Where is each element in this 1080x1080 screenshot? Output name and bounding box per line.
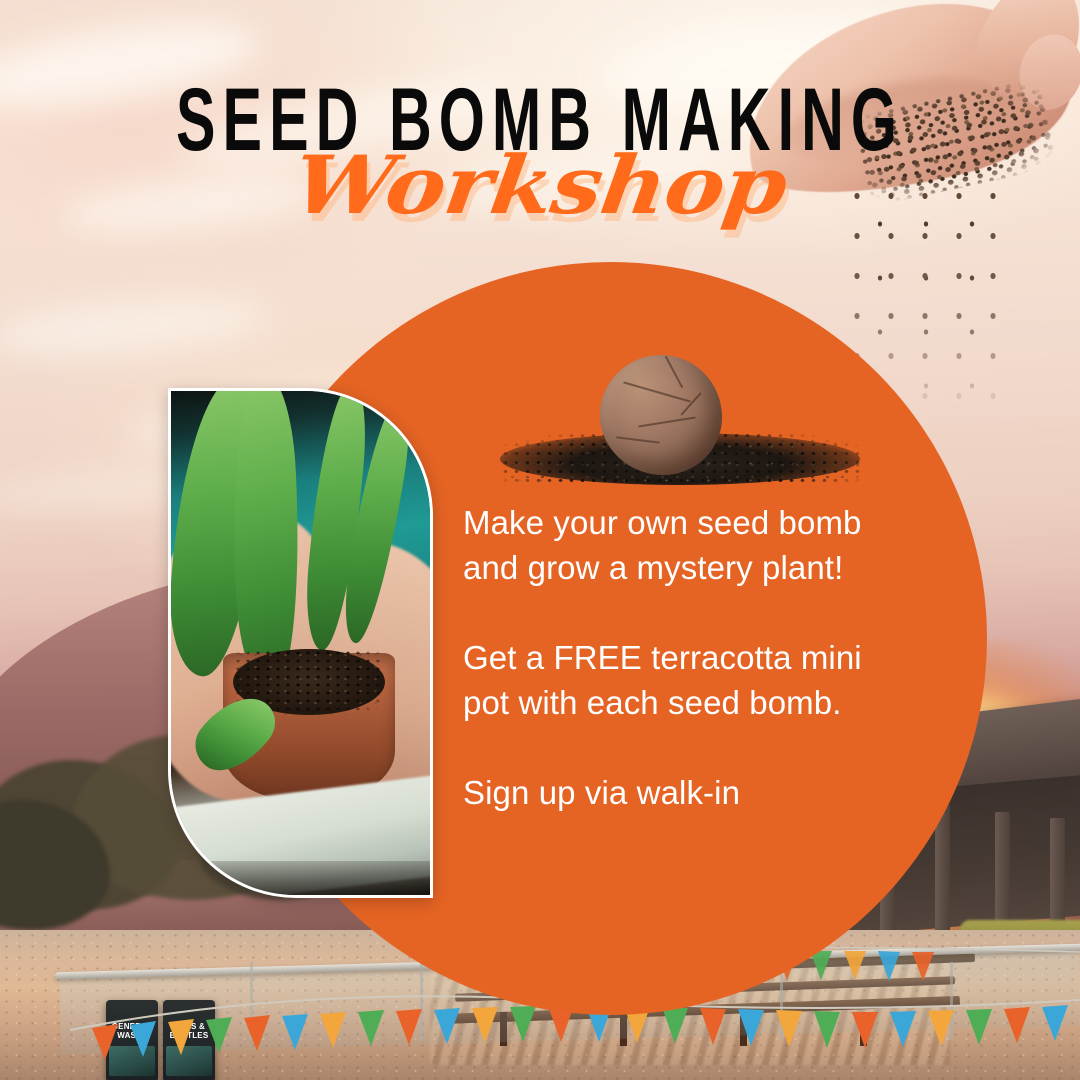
body-paragraph-1: Make your own seed bomb and grow a myste…	[463, 500, 883, 590]
body-copy: Make your own seed bomb and grow a myste…	[463, 500, 883, 815]
seed-bomb-ball	[600, 355, 722, 475]
body-paragraph-2: Get a FREE terracotta mini pot with each…	[463, 635, 883, 725]
body-paragraph-3: Sign up via walk-in	[463, 770, 883, 815]
photo-vignette	[171, 861, 433, 898]
inset-photo-potting-plant	[168, 388, 433, 898]
poster-canvas: GENERAL WASTE CANS & BOTTLES	[0, 0, 1080, 1080]
title-script-line: Workshop	[0, 138, 1080, 232]
seed-bomb-product-photo	[470, 335, 890, 515]
poster-title: SEED BOMB MAKING Workshop	[0, 76, 1080, 139]
